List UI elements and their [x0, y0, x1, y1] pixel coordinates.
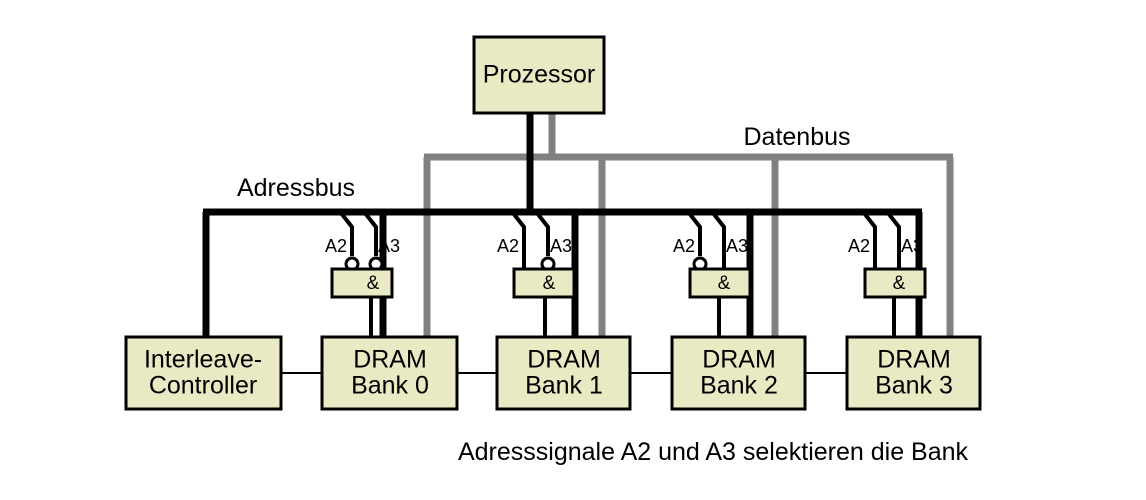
bank-1-label-line1: DRAM — [527, 346, 601, 374]
bank-0-a3-tap-wire — [365, 213, 376, 256]
bank-1-a3-label: A3 — [550, 236, 572, 256]
bank-2-label-line1: DRAM — [702, 346, 776, 374]
diagram-canvas: Prozessor Adressbus Datenbus Interleave-… — [0, 0, 1146, 500]
bank-3-label-line2: Bank 3 — [875, 372, 953, 400]
bank-1-a2-label: A2 — [497, 236, 519, 256]
bank-2-group[interactable]: A2 A3 & DRAM Bank 2 — [672, 213, 805, 409]
bank-0-label-line2: Bank 0 — [351, 372, 429, 400]
bank-0-label-line1: DRAM — [353, 346, 427, 374]
bank-3-a3-tap-wire — [888, 213, 899, 271]
processor-node[interactable]: Prozessor — [474, 37, 604, 113]
bank-1-and-gate-symbol: & — [543, 273, 556, 294]
bank-2-label-line2: Bank 2 — [700, 372, 778, 400]
bank-1-label-line2: Bank 1 — [525, 372, 603, 400]
bank-0-a2-label: A2 — [325, 236, 347, 256]
bank-2-a3-tap-wire — [713, 213, 724, 271]
interleaved-memory-diagram: Prozessor Adressbus Datenbus Interleave-… — [0, 0, 1146, 500]
bank-3-label-line1: DRAM — [877, 346, 951, 374]
diagram-caption: Adresssignale A2 und A3 selektieren die … — [458, 438, 969, 466]
interleave-controller-label-line1: Interleave- — [144, 346, 262, 374]
bank-1-a3-tap-wire — [537, 213, 548, 256]
interleave-controller-label-line2: Controller — [149, 372, 257, 400]
processor-label: Prozessor — [483, 61, 596, 89]
bank-0-a3-label: A3 — [378, 236, 400, 256]
bank-3-group[interactable]: A2 A3 & DRAM Bank 3 — [847, 213, 980, 409]
data-bus-label: Datenbus — [743, 123, 850, 151]
bank-2-and-gate-symbol: & — [718, 273, 731, 294]
bank-2-a2-label: A2 — [673, 236, 695, 256]
bank-3-a3-label: A3 — [901, 236, 923, 256]
interleave-controller-node[interactable]: Interleave- Controller — [126, 337, 281, 409]
bank-1-group[interactable]: A2 A3 & DRAM Bank 1 — [497, 213, 630, 409]
address-bus-label: Adressbus — [237, 174, 355, 202]
bank-3-and-gate-symbol: & — [893, 273, 906, 294]
bank-0-group[interactable]: A2 A3 & DRAM Bank 0 — [322, 213, 457, 409]
bank-0-and-gate-symbol: & — [367, 273, 380, 294]
bank-0-decoder-box[interactable] — [332, 269, 392, 297]
bank-3-a2-label: A2 — [848, 236, 870, 256]
bank-2-a3-label: A3 — [726, 236, 748, 256]
